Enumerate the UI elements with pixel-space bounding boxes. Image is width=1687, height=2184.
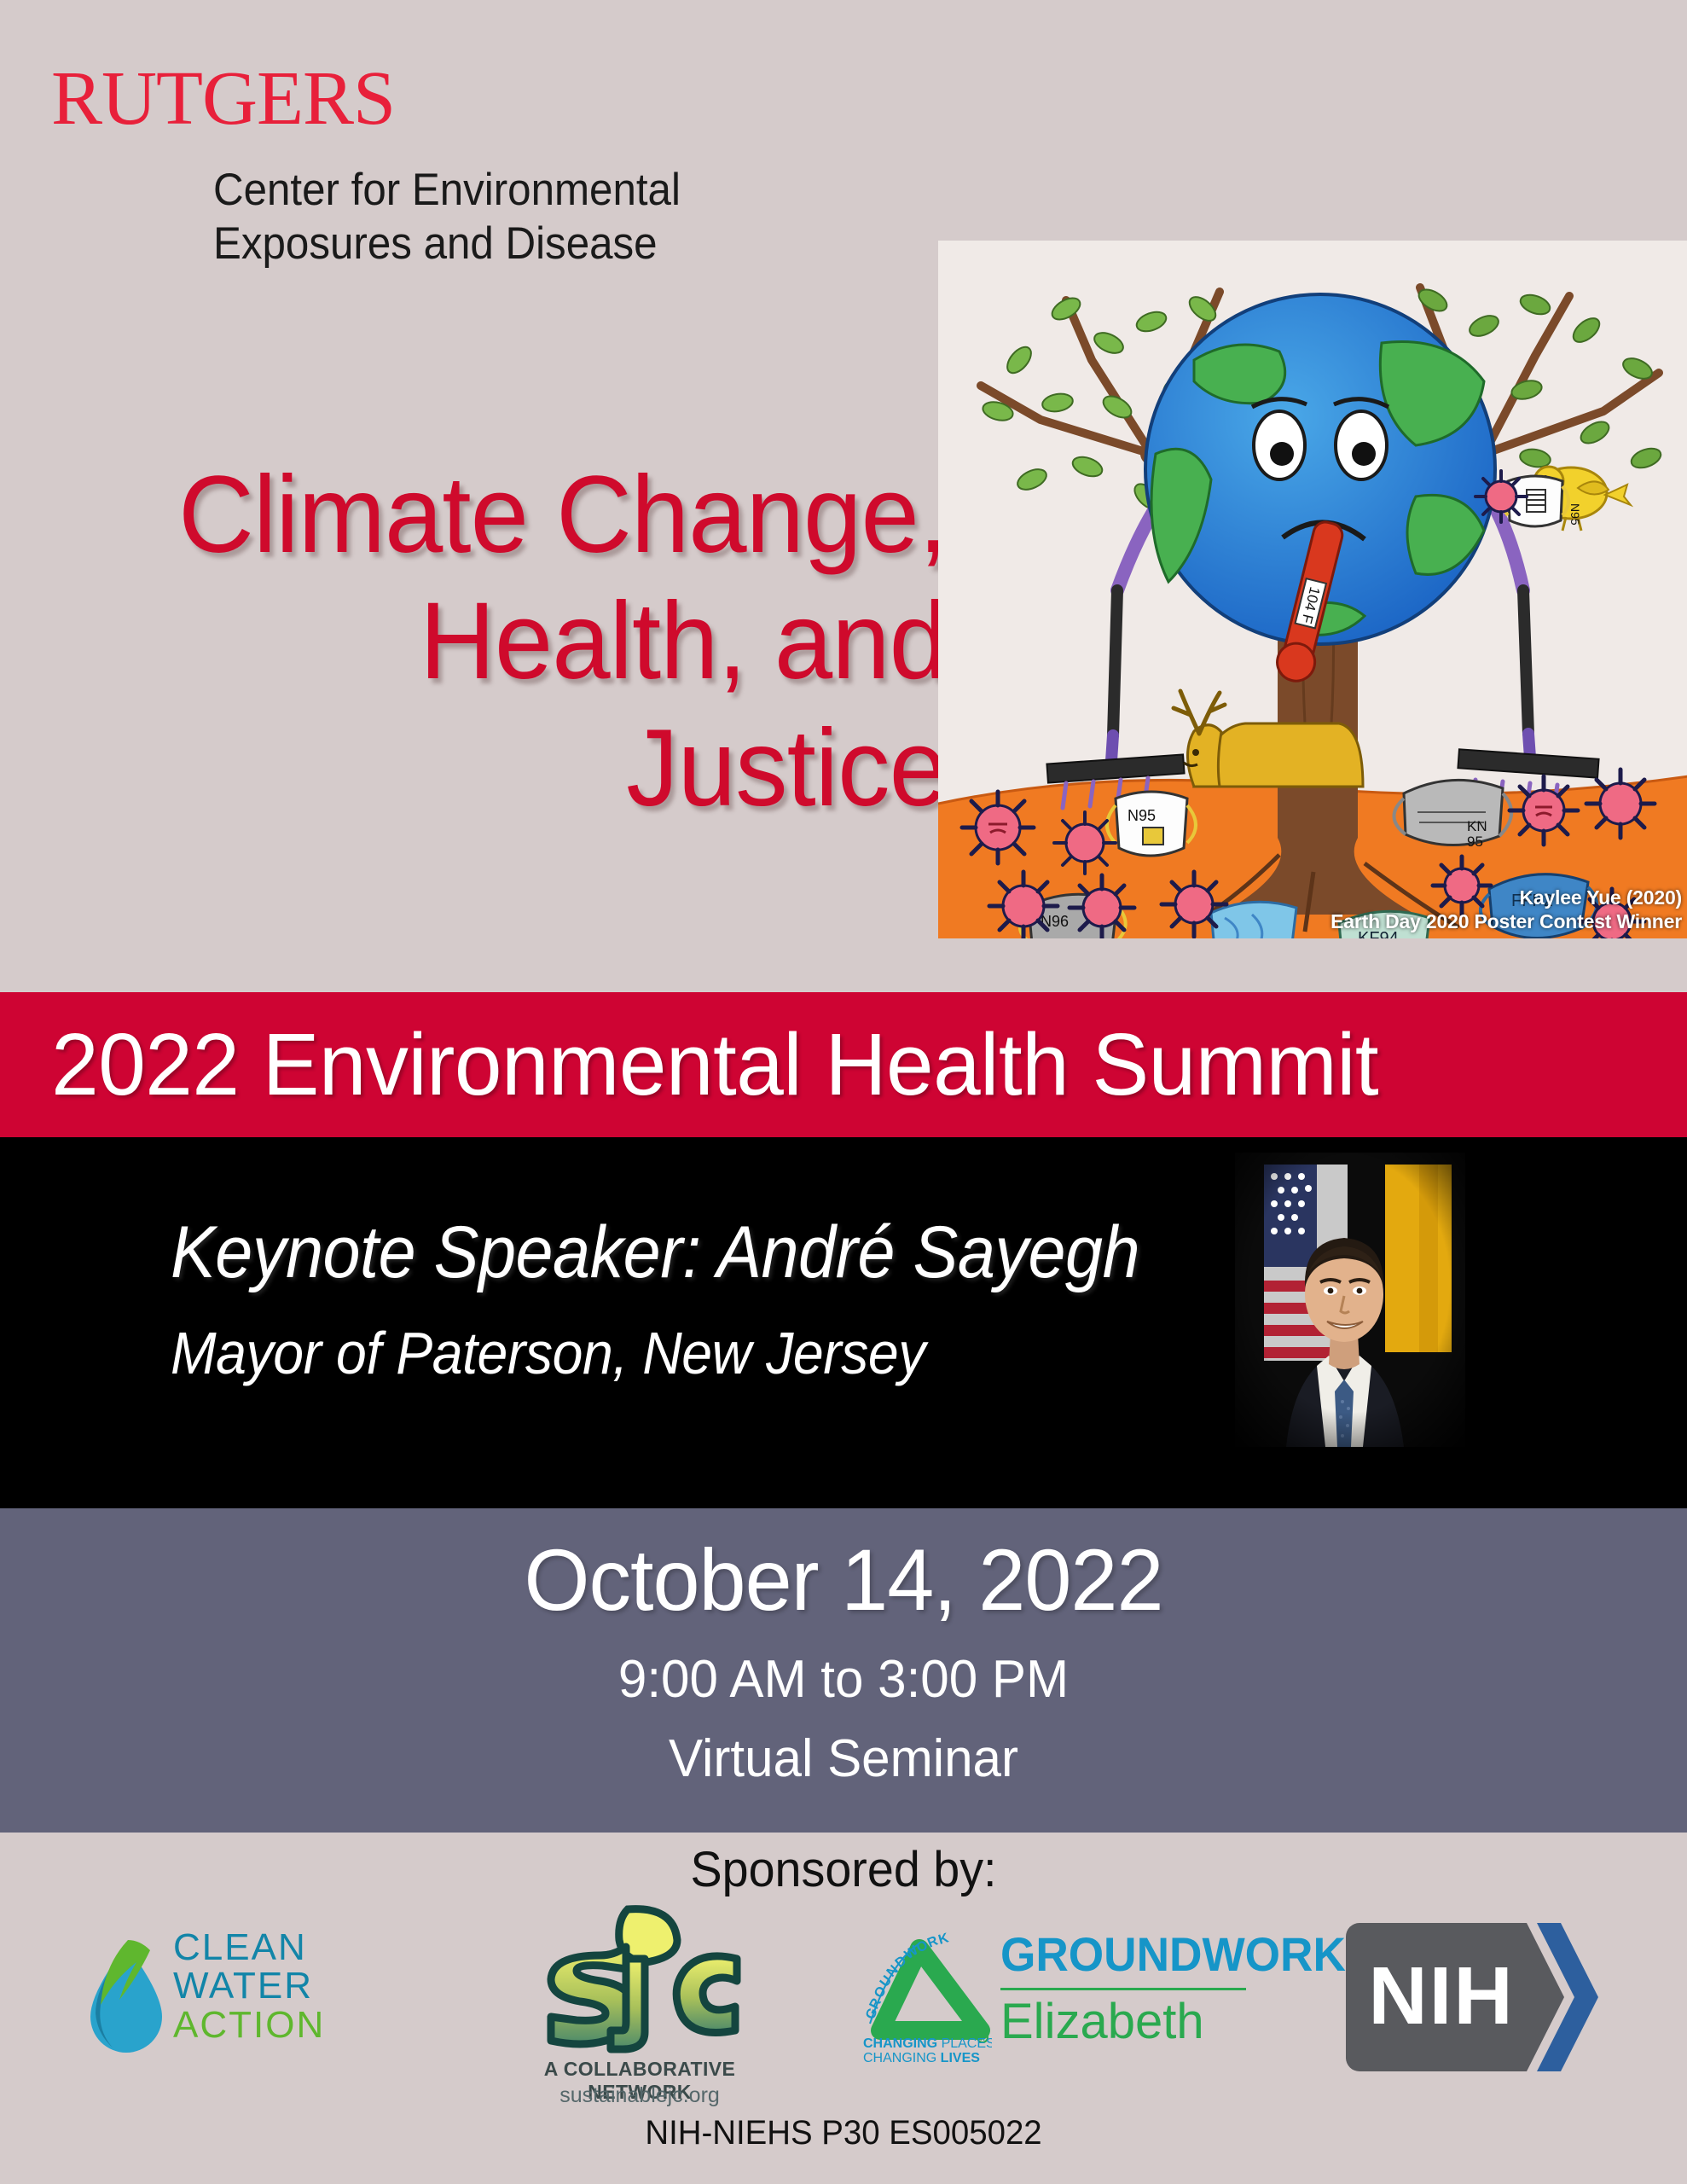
keynote-speaker-title: Mayor of Paterson, New Jersey	[171, 1319, 925, 1387]
sponsor-logo-groundwork-elizabeth: G R O U N D W O R K R CHANGING PLACES CH…	[860, 1921, 1252, 2075]
keynote-section: Keynote Speaker: André Sayegh Mayor of P…	[0, 1137, 1687, 1508]
svg-text:N95: N95	[1128, 807, 1156, 824]
groundwork-triangle-icon: G R O U N D W O R K R CHANGING PLACES CH…	[860, 1931, 992, 2064]
event-time: 9:00 AM to 3:00 PM	[26, 1649, 1662, 1710]
sjc-url: sustainablejc.org	[512, 2083, 768, 2108]
event-date: October 14, 2022	[26, 1531, 1662, 1630]
svg-text:N95: N95	[1568, 503, 1582, 526]
cwa-line-3: ACTION	[173, 2006, 386, 2044]
speaker-photo	[1235, 1153, 1465, 1447]
event-details-section: October 14, 2022 9:00 AM to 3:00 PM Virt…	[0, 1508, 1687, 1833]
center-name: Center for Environmental Exposures and D…	[213, 164, 792, 270]
title-line-1: Climate Change,	[38, 452, 947, 578]
rutgers-logo: Rutgers Center for Environmental Exposur…	[51, 32, 836, 270]
sponsor-logo-sustainable-jersey-city: A COLLABORATIVE NETWORK sustainablejc.or…	[512, 1902, 768, 2111]
groundwork-tagline-line2: CHANGING LIVES	[863, 2051, 980, 2064]
speaker-portrait	[1235, 1153, 1465, 1447]
sponsor-logo-clean-water-action: CLEAN WATER ACTION	[84, 1921, 382, 2075]
title-line-2: Health, and	[38, 578, 947, 705]
svg-text:NIH: NIH	[1368, 1950, 1514, 2042]
sponsor-logo-nih: NIH	[1346, 1916, 1610, 2078]
keynote-speaker-name: Keynote Speaker: André Sayegh	[171, 1211, 1139, 1295]
event-format: Virtual Seminar	[26, 1728, 1662, 1789]
groundwork-city: Elizabeth	[1000, 1993, 1204, 2050]
cwa-line-1: CLEAN	[173, 1928, 386, 1966]
artwork-credit: Kaylee Yue (2020) Earth Day 2020 Poster …	[1330, 886, 1682, 933]
header-section: Rutgers Center for Environmental Exposur…	[0, 0, 1687, 992]
svg-text:KN: KN	[1467, 818, 1487, 834]
groundwork-tagline-line1: CHANGING PLACES	[863, 2036, 992, 2051]
earth-tree-illustration: 104 F	[938, 241, 1687, 938]
summit-banner: 2022 Environmental Health Summit	[0, 992, 1687, 1137]
page-title: Climate Change, Health, and Justice	[0, 452, 947, 832]
grant-number: NIH-NIEHS P30 ES005022	[34, 2114, 1654, 2152]
clean-water-action-wordmark: CLEAN WATER ACTION	[173, 1928, 386, 2044]
svg-text:95: 95	[1467, 834, 1483, 850]
sponsored-by-heading: Sponsored by:	[34, 1841, 1654, 1898]
poster-artwork: 104 F	[938, 241, 1687, 938]
sponsors-section: Sponsored by: CLEAN WATER ACTION	[0, 1833, 1687, 2184]
summit-banner-text: 2022 Environmental Health Summit	[0, 1014, 1378, 1115]
title-line-3: Justice	[38, 706, 947, 832]
artwork-credit-artist: Kaylee Yue (2020)	[1330, 886, 1682, 909]
nih-logo-icon: NIH	[1346, 1916, 1610, 2078]
sponsor-logo-row: CLEAN WATER ACTION	[0, 1899, 1687, 2112]
center-name-line1: Center for Environmental	[213, 164, 792, 218]
water-drop-leaf-icon	[84, 1931, 169, 2059]
cwa-line-2: WATER	[173, 1966, 386, 2005]
sjc-leaf-wordmark-icon	[527, 1902, 751, 2054]
groundwork-wordmark: GROUNDWORK	[1000, 1926, 1346, 1982]
rutgers-wordmark: Rutgers	[51, 32, 836, 142]
groundwork-divider	[1000, 1988, 1246, 1990]
artwork-credit-award: Earth Day 2020 Poster Contest Winner	[1330, 909, 1682, 933]
center-name-line2: Exposures and Disease	[213, 218, 792, 271]
